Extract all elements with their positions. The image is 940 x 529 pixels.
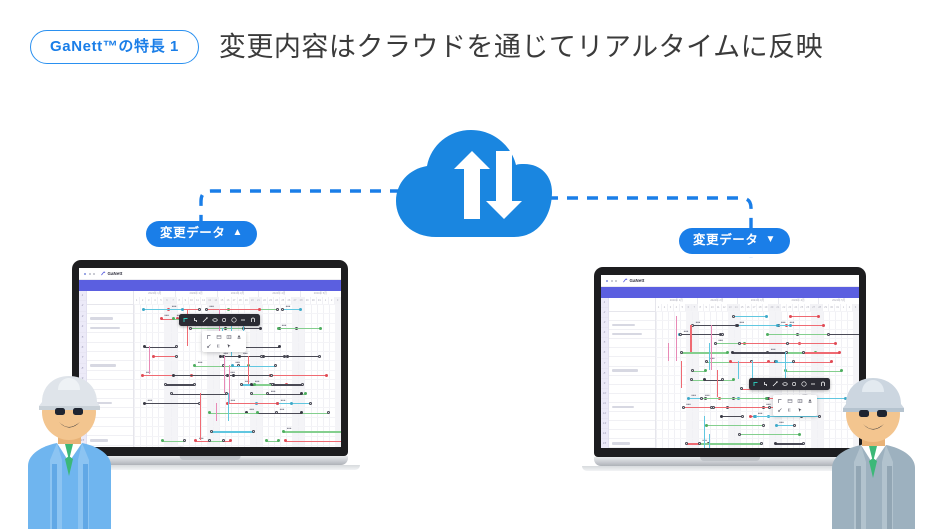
gantt-task-row[interactable]: [609, 376, 655, 385]
gantt-event-node[interactable]: [774, 442, 777, 445]
app-ribbon-left: [79, 280, 341, 291]
gantt-gridline-horizontal: [134, 436, 341, 437]
gantt-link-label: ■■■: [758, 412, 763, 415]
gantt-task-row[interactable]: [87, 305, 133, 314]
gantt-event-node[interactable]: [219, 355, 222, 358]
gantt-link-label: ■■■: [684, 330, 689, 333]
gantt-dependency-link[interactable]: [165, 384, 194, 385]
gantt-dependency-link[interactable]: [283, 309, 301, 310]
right-worker-head: [843, 378, 904, 446]
gantt-row-number: 3: [601, 318, 608, 328]
gantt-link-label: ■■■: [230, 399, 235, 402]
gantt-event-node[interactable]: [679, 333, 682, 336]
gantt-row-number: 10: [601, 389, 608, 399]
gantt-row-number: 4: [601, 328, 608, 338]
gantt-row-numbers-right: 123456789101112131415161718: [601, 298, 609, 448]
gantt-task-row[interactable]: [609, 403, 655, 412]
gantt-event-node[interactable]: [172, 374, 175, 377]
gantt-event-node[interactable]: [281, 308, 284, 311]
gantt-row-number: 7: [79, 353, 86, 363]
circle-large-icon[interactable]: [801, 381, 807, 387]
gantt-dependency-link[interactable]: [212, 431, 253, 432]
app-brand-right: GaNett: [623, 278, 645, 283]
gantt-dependency-link[interactable]: [768, 334, 829, 335]
gantt-dependency-link[interactable]: [284, 431, 341, 432]
gantt-event-node[interactable]: [793, 424, 796, 427]
gantt-dependency-link[interactable]: [143, 309, 182, 310]
gantt-gridline-horizontal: [656, 347, 859, 348]
gantt-event-node[interactable]: [198, 308, 201, 311]
gantt-task-row[interactable]: [87, 333, 133, 342]
gantt-event-node[interactable]: [160, 317, 163, 320]
gantt-event-node[interactable]: [193, 383, 196, 386]
gantt-dependency-link-vertical[interactable]: [738, 361, 739, 379]
gantt-link-label: ■■■: [198, 361, 203, 364]
gantt-task-row[interactable]: [609, 394, 655, 403]
gantt-dependency-link[interactable]: [791, 316, 819, 317]
gantt-event-node[interactable]: [143, 402, 146, 405]
ganett-mark-icon: [101, 271, 106, 276]
gantt-event-node[interactable]: [319, 327, 322, 330]
dash-icon[interactable]: [240, 317, 246, 323]
badge-download-label: 変更データ: [693, 234, 759, 247]
gantt-link-label: ■■■: [771, 348, 776, 351]
gantt-task-row[interactable]: [87, 314, 133, 323]
gantt-gridline-vertical: [662, 311, 663, 448]
gantt-event-node[interactable]: [259, 327, 262, 330]
gantt-task-row[interactable]: [87, 324, 133, 333]
gantt-event-node[interactable]: [300, 411, 303, 414]
gantt-dependency-link[interactable]: [702, 398, 766, 399]
gantt-event-node[interactable]: [798, 433, 801, 436]
gantt-gridline-horizontal: [134, 370, 341, 371]
gantt-dependency-link-vertical[interactable]: [200, 393, 201, 440]
draw-toolbar-left[interactable]: [179, 314, 260, 326]
zigzag-icon[interactable]: [763, 381, 769, 387]
gantt-event-node[interactable]: [726, 351, 729, 354]
bracket-icon[interactable]: [777, 398, 783, 404]
gantt-dependency-link-vertical[interactable]: [228, 393, 229, 421]
gantt-task-label: [612, 442, 630, 445]
gantt-event-node[interactable]: [276, 402, 279, 405]
gantt-event-node[interactable]: [141, 374, 144, 377]
window-dots-extra-right[interactable]: [611, 280, 617, 282]
ellipse-outline-icon[interactable]: [782, 381, 788, 387]
gantt-link-label: ■■■: [691, 394, 696, 397]
gantt-row-number: 11: [601, 399, 608, 409]
gantt-dependency-link-vertical[interactable]: [676, 316, 677, 362]
gantt-dependency-link-vertical[interactable]: [224, 356, 225, 394]
gantt-event-node[interactable]: [277, 327, 280, 330]
zigzag-icon[interactable]: [193, 317, 199, 323]
gantt-event-node[interactable]: [738, 433, 741, 436]
gantt-event-node[interactable]: [304, 392, 307, 395]
gantt-event-node[interactable]: [741, 415, 744, 418]
gantt-dependency-link[interactable]: [775, 443, 803, 444]
gantt-link-label: ■■■: [209, 305, 214, 308]
gantt-dependency-link[interactable]: [804, 352, 840, 353]
gantt-task-row[interactable]: [609, 385, 655, 394]
gantt-row-number: 4: [79, 322, 86, 332]
gantt-dependency-link[interactable]: [734, 316, 766, 317]
gantt-task-label: [612, 369, 638, 372]
gantt-link-label: ■■■: [271, 390, 276, 393]
gantt-link-label: ■■■: [286, 305, 291, 308]
gantt-day-ticks-left: 1234567891011121314151617181920212223242…: [134, 297, 341, 304]
app-brand-label-right: GaNett: [630, 278, 645, 283]
gantt-day-ticks-right: 1234567891011121314151617181920212223242…: [656, 304, 859, 311]
gantt-dependency-link[interactable]: [740, 434, 800, 435]
gantt-event-node[interactable]: [687, 397, 690, 400]
ellipse-outline-icon[interactable]: [212, 317, 218, 323]
gantt-link-label: ■■■: [243, 352, 248, 355]
gantt-dependency-link[interactable]: [285, 441, 341, 442]
gantt-link-label: ■■■: [781, 321, 786, 324]
gantt-link-label: ■■■: [287, 427, 292, 430]
gantt-gridline-horizontal: [656, 357, 859, 358]
gantt-dependency-link[interactable]: [736, 325, 778, 326]
gantt-link-label: ■■■: [235, 361, 240, 364]
gantt-event-node[interactable]: [714, 342, 717, 345]
gantt-task-row[interactable]: [609, 330, 655, 339]
gantt-event-node[interactable]: [753, 415, 756, 418]
gantt-link-label: ■■■: [282, 324, 287, 327]
ganett-mark-icon: [623, 278, 628, 283]
tool-panel-row-1-right: [777, 398, 813, 404]
grid-icon[interactable]: [797, 398, 803, 404]
gantt-gridline-horizontal: [134, 445, 341, 446]
slide-header: GaNett™の特長 1 変更内容はクラウドを通じてリアルタイムに反映: [30, 30, 823, 64]
gantt-task-row[interactable]: [609, 439, 655, 448]
gantt-event-node[interactable]: [231, 364, 234, 367]
gantt-gridline-horizontal: [134, 389, 341, 390]
gantt-dependency-link[interactable]: [755, 416, 820, 417]
gantt-gridline-vertical: [656, 311, 657, 448]
gantt-event-node[interactable]: [732, 315, 735, 318]
gantt-row-number: 6: [601, 348, 608, 358]
pen-icon[interactable]: [202, 317, 208, 323]
gantt-dependency-link-vertical[interactable]: [704, 416, 705, 448]
tool-panel-left[interactable]: [202, 331, 246, 352]
draw-toolbar-right[interactable]: [749, 378, 830, 390]
gantt-row-number: 1: [79, 291, 86, 301]
badge-upload-arrow: ▲: [233, 228, 244, 238]
gantt-event-node[interactable]: [705, 424, 708, 427]
gantt-task-row[interactable]: [609, 367, 655, 376]
gantt-link-label: ■■■: [686, 403, 691, 406]
gantt-row-number: 5: [79, 333, 86, 343]
gantt-timeline-header-right: 2024年 1月2024年 2月2024年 3月2024年 4月2024年 5月…: [656, 298, 859, 312]
corner-arrow-icon[interactable]: [753, 381, 759, 387]
badge-download-arrow: ▼: [766, 235, 777, 245]
gantt-event-node[interactable]: [789, 315, 792, 318]
gantt-dependency-link[interactable]: [154, 356, 176, 357]
gantt-timeline-header-left: 2024年 1月2024年 2月2024年 3月2024年 4月2024年 5月…: [134, 291, 341, 305]
circle-large-icon[interactable]: [231, 317, 237, 323]
gantt-link-label: ■■■: [172, 305, 177, 308]
left-worker: [12, 364, 127, 529]
gantt-gridline-horizontal: [134, 304, 341, 305]
window-dots-right[interactable]: [606, 280, 608, 282]
gantt-task-header-left: [87, 291, 133, 305]
gantt-row-number: 12: [601, 409, 608, 419]
badge-download: 変更データ ▼: [679, 228, 790, 254]
gantt-gridline-horizontal: [134, 379, 341, 380]
circle-outline-icon[interactable]: [221, 317, 227, 323]
gantt-task-row[interactable]: [609, 430, 655, 439]
grid-icon[interactable]: [226, 334, 232, 340]
gantt-row-number: 13: [601, 419, 608, 429]
stamp-icon[interactable]: [236, 334, 242, 340]
gantt-dependency-link-vertical[interactable]: [711, 325, 712, 371]
gantt-day-tick: 3: [335, 297, 341, 304]
gantt-event-node[interactable]: [762, 424, 765, 427]
gantt-row-number: 14: [601, 429, 608, 439]
gantt-event-node[interactable]: [318, 355, 321, 358]
gantt-gridline-horizontal: [656, 338, 859, 339]
table-icon[interactable]: [787, 398, 793, 404]
gantt-event-node[interactable]: [175, 355, 178, 358]
gantt-event-node[interactable]: [720, 415, 723, 418]
cloud-sync-icon: [390, 125, 555, 245]
gantt-task-row[interactable]: [609, 312, 655, 321]
gantt-dependency-link-vertical[interactable]: [681, 361, 682, 388]
gantt-link-label: ■■■: [696, 321, 701, 324]
gantt-event-node[interactable]: [325, 374, 328, 377]
gantt-dependency-link[interactable]: [721, 416, 743, 417]
gantt-dependency-link[interactable]: [278, 328, 320, 329]
gantt-task-label: [612, 406, 634, 409]
gantt-task-label: [612, 333, 642, 336]
gantt-row-number: 8: [601, 369, 608, 379]
gantt-dependency-link[interactable]: [162, 441, 184, 442]
gantt-task-column-right: [609, 298, 656, 448]
tool-panel-row-1-left: [206, 334, 242, 340]
gantt-task-row[interactable]: [87, 352, 133, 361]
gantt-task-row[interactable]: [609, 339, 655, 348]
gantt-event-node[interactable]: [712, 406, 715, 409]
app-ribbon-right: [601, 287, 859, 298]
gantt-row-number: 6: [79, 343, 86, 353]
gantt-dependency-link[interactable]: [268, 394, 302, 395]
gantt-dependency-link[interactable]: [707, 425, 764, 426]
gantt-gridline-horizontal: [656, 320, 859, 321]
gantt-link-label: ■■■: [718, 339, 723, 342]
gantt-link-label: ■■■: [249, 408, 254, 411]
gantt-dependency-link[interactable]: [787, 343, 836, 344]
gantt-link-label: ■■■: [178, 446, 183, 447]
gantt-event-node[interactable]: [189, 327, 192, 330]
gantt-row-number: 7: [601, 359, 608, 369]
gantt-task-row[interactable]: [609, 412, 655, 421]
gantt-event-node[interactable]: [181, 308, 184, 311]
gantt-row-number: 15: [601, 439, 608, 448]
gantt-link-label: ■■■: [147, 399, 152, 402]
gantt-event-node[interactable]: [164, 383, 167, 386]
gantt-event-node[interactable]: [822, 324, 825, 327]
window-dots-left[interactable]: [84, 273, 86, 275]
gantt-task-row[interactable]: [609, 348, 655, 357]
gantt-gridline-vertical: [668, 311, 669, 448]
feature-badge: GaNett™の特長 1: [30, 30, 199, 64]
gantt-event-node[interactable]: [830, 360, 833, 363]
gantt-event-node[interactable]: [834, 342, 837, 345]
gantt-event-node[interactable]: [232, 374, 235, 377]
gantt-dependency-link[interactable]: [144, 403, 199, 404]
gantt-event-node[interactable]: [765, 397, 768, 400]
gantt-link-label: ■■■: [281, 399, 286, 402]
table-icon[interactable]: [216, 334, 222, 340]
gantt-event-node[interactable]: [721, 333, 724, 336]
gantt-event-node[interactable]: [765, 315, 768, 318]
gantt-dependency-link[interactable]: [705, 380, 723, 381]
gantt-event-node[interactable]: [738, 342, 741, 345]
tool-panel-right[interactable]: [773, 395, 817, 416]
gantt-row-number: 2: [601, 308, 608, 318]
gantt-event-node[interactable]: [749, 415, 752, 418]
gantt-event-node[interactable]: [682, 406, 685, 409]
flow-icon[interactable]: [787, 407, 793, 413]
gantt-dependency-link[interactable]: [713, 407, 770, 408]
gantt-gridline-vertical: [740, 311, 741, 448]
gantt-dependency-link[interactable]: [262, 356, 320, 357]
gantt-dependency-link[interactable]: [232, 366, 276, 367]
gantt-task-row[interactable]: [87, 343, 133, 352]
gantt-link-label: ■■■: [164, 314, 169, 317]
gantt-event-node[interactable]: [253, 383, 256, 386]
gantt-gridline-horizontal: [134, 407, 341, 408]
gantt-event-node[interactable]: [252, 430, 255, 433]
gantt-event-node[interactable]: [309, 402, 312, 405]
gantt-event-node[interactable]: [827, 333, 830, 336]
gantt-dependency-link[interactable]: [776, 425, 794, 426]
gantt-dependency-link[interactable]: [683, 407, 711, 408]
gantt-link-label: ■■■: [779, 421, 784, 424]
gantt-gridline-horizontal: [656, 311, 859, 312]
tool-panel-row-2-right: [777, 407, 813, 413]
gantt-event-node[interactable]: [817, 315, 820, 318]
gantt-event-node[interactable]: [766, 333, 769, 336]
gantt-task-row[interactable]: [609, 421, 655, 430]
gantt-event-node[interactable]: [270, 374, 273, 377]
gantt-event-node[interactable]: [704, 369, 707, 372]
gantt-gridline-vertical: [674, 311, 675, 448]
app-window-bar-right: GaNett: [601, 275, 859, 287]
gantt-task-label: [90, 327, 120, 330]
gantt-event-node[interactable]: [274, 364, 277, 367]
bracket-icon[interactable]: [206, 334, 212, 340]
cursor-icon[interactable]: [226, 343, 232, 349]
left-worker-head: [39, 376, 100, 444]
gantt-dependency-link[interactable]: [254, 384, 272, 385]
gantt-task-label: [90, 317, 113, 320]
badge-upload: 変更データ ▲: [146, 221, 257, 247]
gantt-event-node[interactable]: [698, 442, 701, 445]
pen-icon[interactable]: [772, 381, 778, 387]
gantt-gridline-vertical: [746, 311, 747, 448]
gantt-event-node[interactable]: [175, 345, 178, 348]
gantt-row-number: 3: [79, 312, 86, 322]
gantt-task-row[interactable]: [609, 357, 655, 366]
gantt-dependency-link-vertical[interactable]: [709, 434, 710, 448]
gantt-event-node[interactable]: [142, 308, 145, 311]
right-worker-body: [832, 442, 915, 529]
gantt-gridline-horizontal: [134, 398, 341, 399]
gantt-row-number: 2: [79, 301, 86, 311]
gantt-dependency-link-vertical[interactable]: [690, 325, 691, 352]
app-brand-label-left: GaNett: [108, 271, 123, 276]
flow-icon[interactable]: [216, 343, 222, 349]
gantt-dependency-link[interactable]: [733, 352, 787, 353]
gantt-event-node[interactable]: [786, 342, 789, 345]
gantt-dependency-link-vertical[interactable]: [785, 352, 786, 379]
arch-icon[interactable]: [250, 317, 256, 323]
gantt-event-node[interactable]: [183, 439, 186, 442]
gantt-row-number: 5: [601, 338, 608, 348]
badge-upload-label: 変更データ: [160, 227, 226, 240]
link-icon[interactable]: [206, 343, 212, 349]
gantt-task-header-right: [609, 298, 655, 312]
gantt-dependency-link[interactable]: [682, 352, 728, 353]
gantt-event-node[interactable]: [736, 324, 739, 327]
stamp-icon[interactable]: [807, 398, 813, 404]
gantt-event-node[interactable]: [205, 308, 208, 311]
gantt-event-node[interactable]: [760, 442, 763, 445]
gantt-event-node[interactable]: [276, 308, 279, 311]
circle-outline-icon[interactable]: [791, 381, 797, 387]
corner-arrow-icon[interactable]: [183, 317, 189, 323]
right-worker: [814, 364, 932, 529]
window-dots-extra-left[interactable]: [89, 273, 95, 275]
gantt-dependency-link-vertical[interactable]: [149, 346, 150, 374]
gantt-dependency-link[interactable]: [681, 334, 723, 335]
gantt-event-node[interactable]: [258, 308, 261, 311]
gantt-link-label: ■■■: [223, 352, 228, 355]
app-window-bar-left: GaNett: [79, 268, 341, 280]
gantt-link-label: ■■■: [280, 408, 285, 411]
gantt-gridline-horizontal: [134, 417, 341, 418]
cursor-icon[interactable]: [797, 407, 803, 413]
slide-canvas: GaNett™の特長 1 変更内容はクラウドを通じてリアルタイムに反映 変更デー…: [0, 0, 940, 529]
tool-panel-row-2-left: [206, 343, 242, 349]
link-icon[interactable]: [777, 407, 783, 413]
gantt-event-node[interactable]: [789, 324, 792, 327]
gantt-day-tick: 3: [853, 304, 859, 311]
left-worker-body: [28, 440, 111, 529]
gantt-dependency-link[interactable]: [227, 403, 277, 404]
arch-icon[interactable]: [820, 381, 826, 387]
gantt-dependency-link-vertical[interactable]: [248, 356, 249, 384]
gantt-dependency-link-vertical[interactable]: [717, 370, 718, 397]
gantt-task-row[interactable]: [609, 321, 655, 330]
gantt-gridline-horizontal: [134, 426, 341, 427]
gantt-dependency-link[interactable]: [206, 309, 259, 310]
gantt-dependency-link-vertical[interactable]: [216, 403, 217, 422]
gantt-dependency-link[interactable]: [270, 375, 326, 376]
gantt-row-number: 9: [601, 379, 608, 389]
gantt-dependency-link-vertical[interactable]: [668, 343, 669, 361]
gantt-event-node[interactable]: [299, 308, 302, 311]
gantt-row-number: 1: [601, 298, 608, 308]
gantt-event-node[interactable]: [775, 424, 778, 427]
gantt-dependency-link[interactable]: [693, 325, 738, 326]
page-title: 変更内容はクラウドを通じてリアルタイムに反映: [219, 34, 823, 61]
gantt-link-label: ■■■: [739, 321, 744, 324]
dash-icon[interactable]: [810, 381, 816, 387]
gantt-link-label: ■■■: [705, 394, 710, 397]
gantt-event-node[interactable]: [691, 324, 694, 327]
gantt-dependency-link[interactable]: [190, 328, 243, 329]
